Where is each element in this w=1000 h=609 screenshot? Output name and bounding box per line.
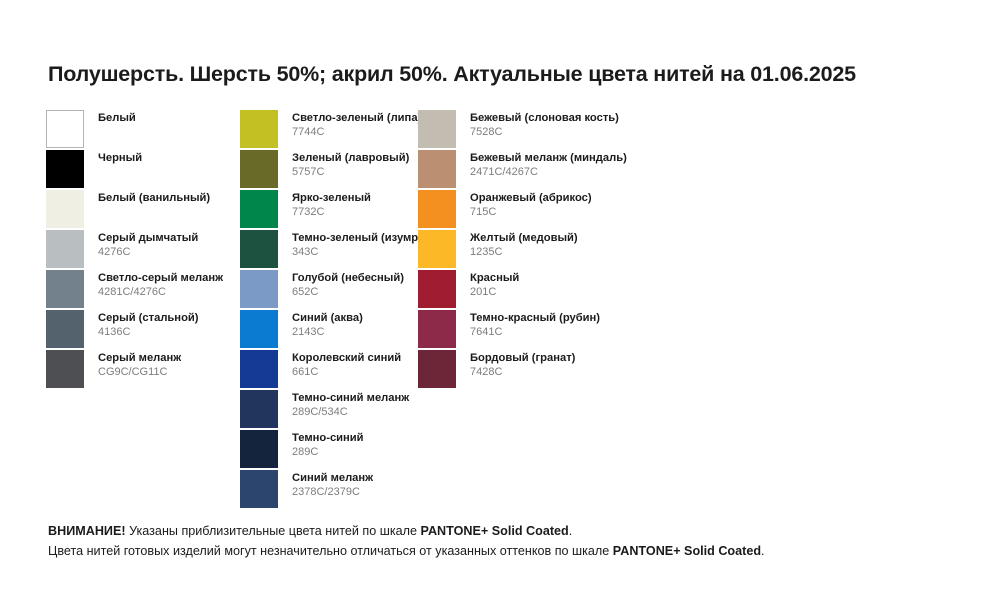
color-pantone-code: 1235C [470, 246, 578, 259]
color-row: Королевский синий661C [240, 350, 420, 390]
color-swatch [240, 470, 278, 508]
color-row-text: Темно-синий289C [292, 432, 364, 459]
color-row: Оранжевый (абрикос)715C [418, 190, 678, 230]
swatch-column-neutrals: БелыйЧерныйБелый (ванильный)Серый дымчат… [46, 110, 246, 390]
color-swatch [418, 350, 456, 388]
color-name: Бежевый меланж (миндаль) [470, 152, 627, 165]
color-swatch [418, 110, 456, 148]
color-row-text: Бежевый (слоновая кость)7528C [470, 112, 619, 139]
color-swatch [240, 310, 278, 348]
color-name: Синий меланж [292, 472, 373, 485]
color-swatch [418, 190, 456, 228]
color-row-text: Темно-красный (рубин)7641C [470, 312, 600, 339]
color-name: Серый (стальной) [98, 312, 199, 325]
footer-line-2-end: . [761, 544, 765, 558]
color-swatch [46, 230, 84, 268]
color-name: Голубой (небесный) [292, 272, 404, 285]
color-row-text: Серый дымчатый4276C [98, 232, 198, 259]
color-row-text: Темно-синий меланж289C/534C [292, 392, 409, 419]
color-name: Белый (ванильный) [98, 192, 210, 205]
footer-brand-1: PANTONE+ Solid Coated [420, 524, 568, 538]
color-swatch [46, 150, 84, 188]
color-row: Серый меланжCG9C/CG11C [46, 350, 246, 390]
color-swatch [46, 270, 84, 308]
color-swatch [240, 270, 278, 308]
color-name: Белый [98, 112, 136, 125]
color-pantone-code: 343C [292, 246, 435, 259]
footer-line-2-text: Цвета нитей готовых изделий могут незнач… [48, 544, 613, 558]
color-row-text: Зеленый (лавровый)5757C [292, 152, 409, 179]
color-row: Бежевый меланж (миндаль)2471C/4267C [418, 150, 678, 190]
color-swatch [46, 110, 84, 148]
color-row: Серый дымчатый4276C [46, 230, 246, 270]
color-row-text: Белый (ванильный) [98, 192, 210, 205]
footer-brand-2: PANTONE+ Solid Coated [613, 544, 761, 558]
color-name: Бордовый (гранат) [470, 352, 575, 365]
color-swatch [240, 350, 278, 388]
footer-disclaimer: ВНИМАНИЕ! Указаны приблизительные цвета … [48, 521, 968, 562]
color-row-text: Оранжевый (абрикос)715C [470, 192, 592, 219]
color-pantone-code: 4136C [98, 326, 199, 339]
color-card-page: Полушерсть. Шерсть 50%; акрил 50%. Актуа… [0, 0, 1000, 609]
color-row-text: Черный [98, 152, 142, 165]
color-pantone-code: 2143C [292, 326, 363, 339]
color-name: Бежевый (слоновая кость) [470, 112, 619, 125]
color-pantone-code: 2471C/4267C [470, 166, 627, 179]
page-title: Полушерсть. Шерсть 50%; акрил 50%. Актуа… [48, 62, 968, 87]
color-row-text: Серый (стальной)4136C [98, 312, 199, 339]
color-row-text: Белый [98, 112, 136, 125]
color-pantone-code: 661C [292, 366, 401, 379]
color-pantone-code: 715C [470, 206, 592, 219]
color-pantone-code: 4276C [98, 246, 198, 259]
color-row-text: Желтый (медовый)1235C [470, 232, 578, 259]
color-pantone-code: 7528C [470, 126, 619, 139]
color-pantone-code: 652C [292, 286, 404, 299]
color-row: Темно-синий289C [240, 430, 420, 470]
color-swatch [240, 230, 278, 268]
color-row-text: Бежевый меланж (миндаль)2471C/4267C [470, 152, 627, 179]
color-name: Темно-синий меланж [292, 392, 409, 405]
color-row-text: Темно-зеленый (изумруд)343C [292, 232, 435, 259]
color-row-text: Бордовый (гранат)7428C [470, 352, 575, 379]
color-row: Темно-красный (рубин)7641C [418, 310, 678, 350]
color-name: Темно-красный (рубин) [470, 312, 600, 325]
color-swatch [240, 110, 278, 148]
color-row-text: Светло-серый меланж4281C/4276C [98, 272, 223, 299]
color-row: Белый (ванильный) [46, 190, 246, 230]
color-row: Светло-зеленый (липа)7744C [240, 110, 420, 150]
color-row: Голубой (небесный)652C [240, 270, 420, 310]
color-swatch [418, 150, 456, 188]
color-row: Бордовый (гранат)7428C [418, 350, 678, 390]
color-row-text: Ярко-зеленый7732C [292, 192, 371, 219]
color-name: Черный [98, 152, 142, 165]
color-name: Королевский синий [292, 352, 401, 365]
color-swatch [240, 150, 278, 188]
color-swatch [418, 230, 456, 268]
color-name: Оранжевый (абрикос) [470, 192, 592, 205]
color-row-text: Королевский синий661C [292, 352, 401, 379]
color-pantone-code: 7732C [292, 206, 371, 219]
color-row-text: Красный201C [470, 272, 519, 299]
color-name: Желтый (медовый) [470, 232, 578, 245]
color-pantone-code: 289C/534C [292, 406, 409, 419]
color-row-text: Голубой (небесный)652C [292, 272, 404, 299]
color-swatch [240, 430, 278, 468]
swatch-column-warm-reds: Бежевый (слоновая кость)7528CБежевый мел… [418, 110, 678, 390]
color-name: Серый дымчатый [98, 232, 198, 245]
color-name: Темно-синий [292, 432, 364, 445]
color-pantone-code: 4281C/4276C [98, 286, 223, 299]
color-swatch [46, 190, 84, 228]
color-row: Желтый (медовый)1235C [418, 230, 678, 270]
color-pantone-code: 289C [292, 446, 364, 459]
color-name: Темно-зеленый (изумруд) [292, 232, 435, 245]
color-swatch [240, 190, 278, 228]
color-name: Светло-серый меланж [98, 272, 223, 285]
footer-line-1-text: Указаны приблизительные цвета нитей по ш… [126, 524, 421, 538]
color-name: Красный [470, 272, 519, 285]
color-pantone-code: 2378C/2379C [292, 486, 373, 499]
color-pantone-code: 5757C [292, 166, 409, 179]
color-name: Синий (аква) [292, 312, 363, 325]
color-row: Ярко-зеленый7732C [240, 190, 420, 230]
color-name: Светло-зеленый (липа) [292, 112, 421, 125]
color-swatch [418, 270, 456, 308]
color-row: Красный201C [418, 270, 678, 310]
color-row-text: Синий (аква)2143C [292, 312, 363, 339]
color-row: Темно-зеленый (изумруд)343C [240, 230, 420, 270]
color-swatch [46, 350, 84, 388]
color-pantone-code: 7744C [292, 126, 421, 139]
footer-line-2: Цвета нитей готовых изделий могут незнач… [48, 541, 968, 561]
color-name: Зеленый (лавровый) [292, 152, 409, 165]
color-name: Ярко-зеленый [292, 192, 371, 205]
footer-line-1: ВНИМАНИЕ! Указаны приблизительные цвета … [48, 521, 968, 541]
color-swatch [46, 310, 84, 348]
color-row: Светло-серый меланж4281C/4276C [46, 270, 246, 310]
color-pantone-code: CG9C/CG11C [98, 366, 181, 379]
color-row: Синий (аква)2143C [240, 310, 420, 350]
color-row: Белый [46, 110, 246, 150]
color-pantone-code: 7428C [470, 366, 575, 379]
color-row-text: Серый меланжCG9C/CG11C [98, 352, 181, 379]
color-pantone-code: 7641C [470, 326, 600, 339]
color-row-text: Синий меланж2378C/2379C [292, 472, 373, 499]
color-row: Бежевый (слоновая кость)7528C [418, 110, 678, 150]
color-row: Темно-синий меланж289C/534C [240, 390, 420, 430]
color-row: Зеленый (лавровый)5757C [240, 150, 420, 190]
color-pantone-code: 201C [470, 286, 519, 299]
color-swatch [240, 390, 278, 428]
color-swatch [418, 310, 456, 348]
footer-line-1-end: . [569, 524, 573, 538]
color-row: Черный [46, 150, 246, 190]
color-name: Серый меланж [98, 352, 181, 365]
color-row: Серый (стальной)4136C [46, 310, 246, 350]
swatch-column-greens-blues: Светло-зеленый (липа)7744CЗеленый (лавро… [240, 110, 420, 510]
footer-attention-label: ВНИМАНИЕ! [48, 524, 126, 538]
color-row-text: Светло-зеленый (липа)7744C [292, 112, 421, 139]
color-row: Синий меланж2378C/2379C [240, 470, 420, 510]
